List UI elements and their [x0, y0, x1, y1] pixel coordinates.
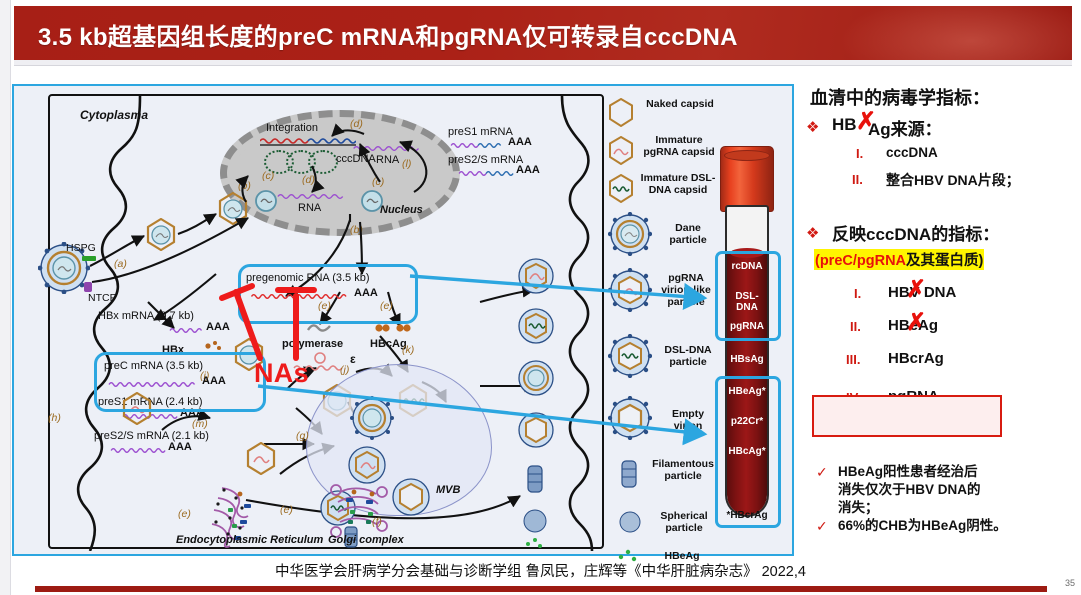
- step-h-label: (h): [48, 412, 61, 424]
- pres2s-squiggle-icon: [456, 169, 518, 178]
- nucleus-label: Nucleus: [380, 204, 423, 216]
- mvb-pgrna-virion-icon: [346, 444, 388, 486]
- integration-label: Integration: [266, 122, 318, 134]
- note1-line3: 消失；: [838, 499, 879, 516]
- step-k-label: (k): [402, 344, 414, 356]
- hbx-mrna-label: HBx mRNA (0.7 kb): [98, 310, 194, 322]
- empty-virion-icon: [608, 396, 652, 440]
- citation-text: 中华医学会肝病学分会基础与诊断学组 鲁凤民，庄辉等《中华肝脏病杂志》 2022,…: [0, 560, 1081, 581]
- hspg-label: HSPG: [66, 242, 96, 254]
- slide-header-bar: 3.5 kb超基因组长度的preC mRNA和pgRNA仅可转录自cccDNA: [14, 6, 1072, 60]
- hbv-lifecycle-diagram: Cytoplasma Nucleus Integration cccDNA RN…: [12, 84, 794, 556]
- left-edge-stripe: [0, 0, 11, 595]
- cell-membrane-left-icon: [50, 96, 170, 551]
- hspg-receptor-icon: [82, 256, 96, 261]
- immature-dsl-dna-capsid-icon: [608, 174, 634, 203]
- section2-highlight-suffix: 及其蛋白质): [906, 253, 983, 269]
- section2-highlight-prefix: (preC/pgRNA: [815, 253, 906, 269]
- legend-label-naked-capsid: Naked capsid: [642, 98, 718, 110]
- cccdna-label: cccDNA: [336, 153, 376, 165]
- page-number: 35: [1065, 578, 1075, 588]
- pres2s-tail-label: AAA: [516, 164, 540, 176]
- section1-item1-text: cccDNA: [886, 145, 938, 160]
- step-e-label-4: (e): [280, 504, 293, 516]
- slide-title: 3.5 kb超基因组长度的preC mRNA和pgRNA仅可转录自cccDNA: [38, 17, 738, 52]
- step-a-label: (a): [114, 258, 127, 270]
- step-b-label-2: (b): [350, 224, 363, 236]
- pres1-tail-label: AAA: [508, 136, 532, 148]
- prec-mrna-squiggle-icon: [104, 380, 204, 389]
- nuclear-rna-label: RNA: [298, 202, 321, 214]
- naked-capsid-icon: [608, 98, 634, 127]
- nuclear-rna-squiggle-icon-2: [350, 144, 424, 153]
- section2-item1-num: I.: [854, 286, 861, 301]
- section1-item2-num: II.: [852, 172, 863, 187]
- step-b-label: (b): [238, 180, 251, 192]
- section1-item1-num: I.: [856, 146, 863, 161]
- legend-label-dsl-dna-particle: DSL-DNA particle: [658, 344, 718, 368]
- er-label: Endocytoplasmic Reticulum: [176, 534, 323, 546]
- dsl-dna-particle-icon: [608, 334, 652, 378]
- nucleus-shape: [220, 110, 460, 236]
- secreted-dane-particle-icon: [516, 358, 556, 398]
- mvb-empty-virion-icon: [390, 476, 432, 518]
- pres2s-21-squiggle-icon: [108, 446, 170, 455]
- pres1-squiggle-icon: [448, 141, 510, 150]
- note1-check-icon: ✓: [816, 464, 828, 481]
- strikethrough-x-icon-section1: ✗: [856, 110, 876, 134]
- hbx-squiggle-icon: [168, 326, 208, 335]
- nuclear-rna-squiggle-icon: [274, 192, 352, 201]
- pregenomic-rna-label: pregenomic RNA (3.5 kb): [246, 272, 370, 284]
- immature-pgrna-capsid-icon: [608, 136, 634, 165]
- section1-title-suffix: Ag来源：: [868, 115, 942, 140]
- section1-bullet-icon: ❖: [806, 118, 819, 136]
- strikethrough-x-icon-hbeag: ✗: [906, 311, 926, 335]
- epsilon-label: ε: [350, 352, 356, 366]
- tube-marker-hbsag: HBsAg: [725, 354, 769, 365]
- nuclear-rna-label-2: RNA: [376, 154, 399, 166]
- pregenomic-rna-squiggle-icon: [246, 292, 356, 301]
- header-underline: [14, 60, 1072, 66]
- step-l-label: (l): [402, 158, 411, 170]
- legend-label-immature-dsl-dna-capsid: Immature DSL-DNA capsid: [634, 172, 722, 196]
- step-g-label: (g): [296, 430, 309, 442]
- dane-particle-icon: [608, 212, 652, 256]
- pres2s-mrna-label: preS2/S mRNA: [448, 154, 523, 166]
- pres1-mrna-label: preS1 mRNA: [448, 126, 513, 138]
- nas-annotation-label: NAs: [254, 358, 309, 389]
- pregenomic-rna-tail-label: AAA: [354, 287, 378, 299]
- secreted-hbeag-icon: [524, 536, 546, 550]
- section2-item2-num: II.: [850, 319, 861, 334]
- section2-bullet-icon: ❖: [806, 224, 819, 242]
- section1-title-prefix: HB: [832, 115, 857, 135]
- polymerase-label: polymerase: [282, 338, 343, 350]
- cytoplasmic-capsid-icon-2: [218, 192, 248, 225]
- hbx-tail-label: AAA: [206, 321, 230, 333]
- hbx-protein-icon: [202, 340, 224, 352]
- integrated-dna-icon: [260, 136, 356, 146]
- section2-item3-text: HBcrAg: [888, 350, 944, 367]
- secreted-filamentous-particle-icon: [520, 462, 550, 496]
- secreted-empty-virion-icon: [516, 410, 556, 450]
- note1-line1: HBeAg阳性患者经治后: [838, 463, 978, 480]
- immature-pgrna-capsid-icon-c: [246, 442, 276, 475]
- secreted-spherical-particle-icon: [522, 508, 548, 534]
- step-d-label-2: (d): [302, 174, 315, 186]
- golgi-label: Golgi complex: [328, 534, 404, 546]
- section2-title: 反映cccDNA的指标：: [832, 220, 999, 245]
- section1-item2-text: 整合HBV DNA片段；: [886, 170, 1020, 190]
- secreted-pgrna-virion-icon: [516, 256, 556, 296]
- legend-label-pgrna-virion-like-particle: pgRNA virion-like particle: [654, 272, 718, 308]
- note2-check-icon: ✓: [816, 518, 828, 535]
- note1-line2: 消失仅次于HBV DNA的: [838, 481, 981, 498]
- cccdna-circle-icon: [308, 150, 338, 174]
- legend-label-dane-particle: Dane particle: [658, 222, 718, 246]
- cytoplasm-label: Cytoplasma: [80, 108, 148, 122]
- tube-highlight-box-nucleic-acids: [715, 251, 781, 341]
- nuclear-capsid-icon-2: [360, 188, 384, 214]
- cell-outline: Cytoplasma Nucleus Integration cccDNA RN…: [48, 94, 604, 549]
- step-c-label-2: (c): [372, 176, 384, 188]
- section2-highlight: (preC/pgRNA及其蛋白质): [814, 249, 984, 270]
- legend-label-filamentous-particle: Filamentous particle: [648, 458, 718, 482]
- step-d-label: (d): [350, 118, 363, 130]
- legend-label-empty-virion: Empty virion: [658, 408, 718, 432]
- spherical-particle-icon: [618, 510, 642, 534]
- legend-label-immature-pgrna-capsid: Immature pgRNA capsid: [638, 134, 720, 158]
- pres2s-21-tail-label: AAA: [168, 441, 192, 453]
- cytoplasmic-capsid-icon: [146, 218, 176, 251]
- prec-mrna-label: preC mRNA (3.5 kb): [104, 360, 203, 372]
- nuclear-capsid-icon: [254, 188, 278, 214]
- step-j-label: (j): [340, 364, 349, 376]
- prec-mrna-tail-label: AAA: [202, 375, 226, 387]
- pgrna-emphasis-box: [812, 395, 1002, 437]
- step-m-label: (m): [192, 418, 208, 430]
- section2-item3-num: III.: [846, 352, 860, 367]
- step-f-label: (f): [372, 516, 382, 528]
- panel-heading: 血清中的病毒学指标：: [810, 84, 990, 110]
- serum-markers-panel: 血清中的病毒学指标： ❖ HB Ag来源： ✗ I. cccDNA II. 整合…: [802, 84, 1077, 562]
- strikethrough-x-icon-hbvdna: ✗: [906, 278, 926, 302]
- step-c-label: (c): [262, 170, 274, 182]
- step-e-label-3: (e): [178, 508, 191, 520]
- secreted-dsl-dna-particle-icon: [516, 306, 556, 346]
- mvb-dane-particle-icon: [350, 396, 394, 440]
- mvb-label: MVB: [436, 484, 460, 496]
- pgrna-virion-like-particle-icon: [608, 268, 652, 312]
- footer-red-bar: [35, 586, 1047, 592]
- ntcp-receptor-icon: [84, 282, 92, 292]
- tube-highlight-box-antigens: [715, 376, 781, 528]
- filamentous-particle-icon: [616, 458, 642, 490]
- note2-line1: 66%的CHB为HBeAg阴性。: [838, 517, 1007, 534]
- test-tube-cap-icon: [720, 146, 774, 212]
- legend-label-spherical-particle: Spherical particle: [650, 510, 718, 534]
- ntcp-label: NTCP: [88, 292, 117, 304]
